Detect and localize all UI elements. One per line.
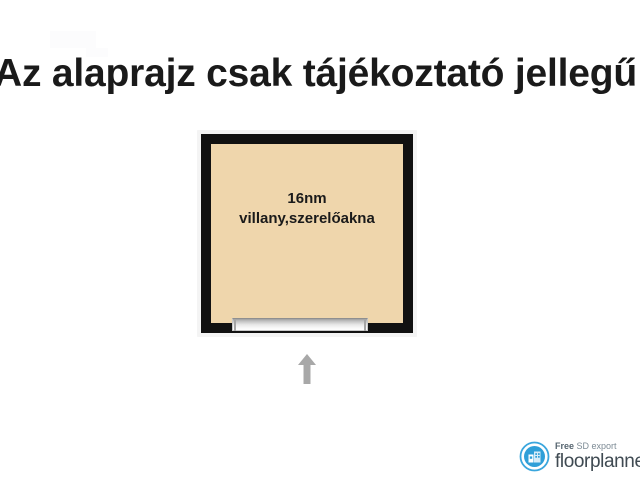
door-jamb-left <box>234 320 236 331</box>
watermark-tagline-rest: SD export <box>574 441 617 451</box>
room-area-label: 16nm <box>211 189 403 209</box>
sliding-door-icon <box>232 318 368 331</box>
watermark-text-group: Free SD export floorplanner <box>555 441 640 472</box>
watermark-tagline: Free SD export <box>555 441 640 452</box>
watermark-tagline-strong: Free <box>555 441 574 451</box>
room-label-group: 16nm villany,szerelőakna <box>211 189 403 229</box>
floorplan-room: 16nm villany,szerelőakna <box>201 134 413 333</box>
disclaimer-text: Az alaprajz csak tájékoztató jellegű! <box>0 48 640 100</box>
entry-direction-arrow-icon <box>296 353 318 385</box>
floorplan-page: Az alaprajz csak tájékoztató jellegű! 16… <box>0 0 640 480</box>
watermark-brand: floorplanner <box>555 452 640 472</box>
floorplanner-watermark: Free SD export floorplanner <box>519 435 640 477</box>
room-walls: 16nm villany,szerelőakna <box>201 134 413 333</box>
floorplanner-badge-icon <box>519 441 550 472</box>
room-name-label: villany,szerelőakna <box>211 209 403 229</box>
room-interior-fill <box>211 144 403 323</box>
background-artifact <box>50 31 96 48</box>
door-jamb-right <box>364 320 366 331</box>
